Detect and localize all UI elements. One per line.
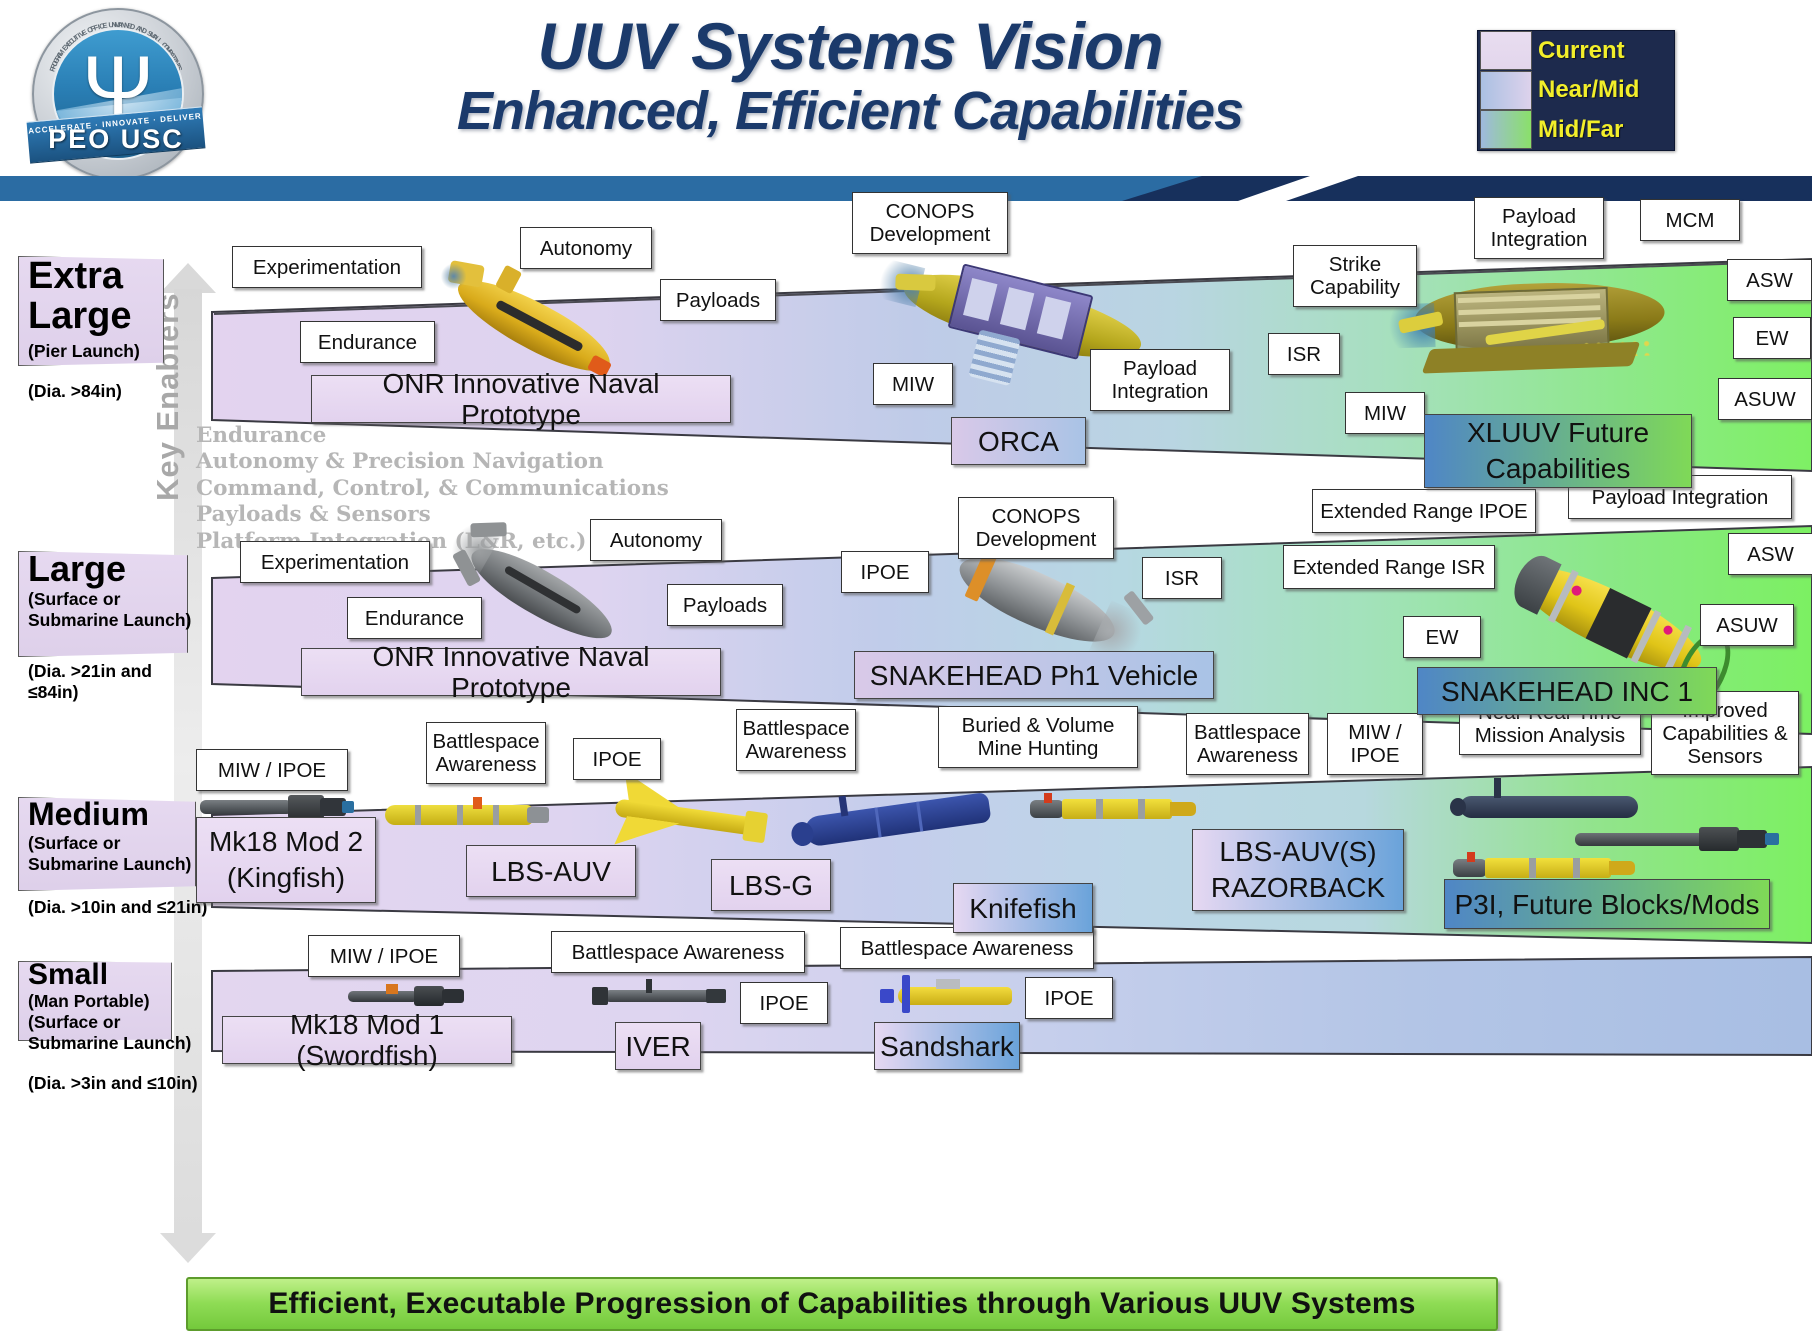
program-lbs-auv[interactable]: LBS-AUV <box>466 845 636 897</box>
diagram-canvas: Key Enablers Endurance Autonomy & Precis… <box>0 201 1812 1305</box>
category-diameter: (Dia. >10in and ≤21in) <box>28 897 208 918</box>
capability-ew-xl[interactable]: EW <box>1733 317 1811 359</box>
program-snakehead-ph1[interactable]: SNAKEHEAD Ph1 Vehicle <box>854 651 1214 699</box>
capability-payload-integration-xl-2[interactable]: Payload Integration <box>1474 197 1604 259</box>
capability-ipoe-small-2[interactable]: IPOE <box>1025 977 1113 1019</box>
capability-experimentation-large[interactable]: Experimentation <box>240 541 430 583</box>
capability-ew-large[interactable]: EW <box>1403 616 1481 658</box>
capability-conops-large[interactable]: CONOPS Development <box>958 497 1114 559</box>
capability-extended-range-ipoe[interactable]: Extended Range IPOE <box>1312 489 1536 533</box>
capability-mcm-xl[interactable]: MCM <box>1640 199 1740 241</box>
legend-label-nearmid: Near/Mid <box>1538 76 1639 104</box>
vehicle-p3i-dark <box>1450 784 1650 820</box>
capability-battlespace-medium-2[interactable]: Battlespace Awareness <box>736 709 856 771</box>
category-launch: (Pier Launch) <box>28 341 140 362</box>
category-diameter: (Dia. >3in and ≤10in) <box>28 1073 206 1094</box>
program-sandshark[interactable]: Sandshark <box>874 1022 1020 1070</box>
page-title: UUV Systems Vision <box>400 8 1300 84</box>
capability-ipoe-small-1[interactable]: IPOE <box>740 982 828 1024</box>
program-lbs-g[interactable]: LBS-G <box>711 859 831 911</box>
capability-autonomy-xl[interactable]: Autonomy <box>520 227 652 269</box>
vehicle-sandshark <box>880 977 1020 1013</box>
capability-isr-xl[interactable]: ISR <box>1268 333 1340 375</box>
capability-ipoe-medium-1[interactable]: IPOE <box>573 738 661 780</box>
program-knifefish[interactable]: Knifefish <box>953 883 1093 933</box>
category-launch: (Man Portable) (Surface or Submarine Lau… <box>28 991 206 1054</box>
legend-swatch-current <box>1480 31 1532 70</box>
capability-payload-integration-xl-1[interactable]: Payload Integration <box>1090 349 1230 411</box>
capability-miw-ipoe-medium-2[interactable]: MIW / IPOE <box>1327 713 1423 775</box>
title-block: UUV Systems Vision Enhanced, Efficient C… <box>400 8 1300 142</box>
legend-label-current: Current <box>1538 37 1625 65</box>
arrow-head-down <box>160 1233 216 1263</box>
legend-label-midfar: Mid/Far <box>1538 116 1623 144</box>
capability-autonomy-large[interactable]: Autonomy <box>590 519 722 561</box>
capability-battlespace-medium-1[interactable]: Battlespace Awareness <box>426 722 546 784</box>
capability-isr-large[interactable]: ISR <box>1142 557 1222 599</box>
program-iver[interactable]: IVER <box>615 1022 701 1070</box>
category-launch: (Surface or Submarine Launch) <box>28 589 198 631</box>
page-header: PROGRAM EXECUTIVE OFFICE UNMANNED AND SM… <box>0 0 1812 196</box>
legend-item-nearmid: Near/Mid <box>1478 71 1674 111</box>
capability-endurance-large[interactable]: Endurance <box>347 597 482 639</box>
capability-asw-xl[interactable]: ASW <box>1727 259 1812 301</box>
program-razorback[interactable]: LBS-AUV(S) RAZORBACK <box>1192 829 1404 911</box>
capability-miw-xl-1[interactable]: MIW <box>873 363 953 405</box>
legend-item-current: Current <box>1478 31 1674 71</box>
capability-payloads-large[interactable]: Payloads <box>667 584 783 626</box>
program-p3i[interactable]: P3I, Future Blocks/Mods <box>1444 879 1770 929</box>
program-xluuv[interactable]: XLUUV Future Capabilities <box>1424 414 1692 488</box>
category-name: Small <box>28 957 108 993</box>
capability-asuw-large[interactable]: ASUW <box>1700 604 1794 646</box>
category-name: Extra <box>28 254 123 298</box>
capability-battlespace-small-2[interactable]: Battlespace Awareness <box>840 927 1094 969</box>
capability-battlespace-medium-3[interactable]: Battlespace Awareness <box>1186 713 1309 775</box>
category-launch: (Surface or Submarine Launch) <box>28 833 208 875</box>
category-name-2: Large <box>28 294 131 338</box>
program-mk18-mod2[interactable]: Mk18 Mod 2 (Kingfish) <box>196 817 376 903</box>
category-diameter: (Dia. >84in) <box>28 381 122 402</box>
legend-item-midfar: Mid/Far <box>1478 110 1674 150</box>
capability-conops-xl[interactable]: CONOPS Development <box>852 192 1008 254</box>
vehicle-razorback <box>1030 792 1210 824</box>
category-diameter: (Dia. >21in and ≤84in) <box>28 661 198 703</box>
page-subtitle: Enhanced, Efficient Capabilities <box>400 80 1300 142</box>
capability-asw-large[interactable]: ASW <box>1728 533 1812 575</box>
capability-experimentation-xl[interactable]: Experimentation <box>232 246 422 288</box>
program-onr-large[interactable]: ONR Innovative Naval Prototype <box>301 648 721 696</box>
peo-usc-seal: PROGRAM EXECUTIVE OFFICE UNMANNED AND SM… <box>18 6 214 176</box>
vehicle-lbs-auv <box>385 797 550 833</box>
capability-miw-ipoe-small[interactable]: MIW / IPOE <box>308 935 460 977</box>
timeframe-legend: Current Near/Mid Mid/Far <box>1477 30 1675 151</box>
vehicle-mk18-mod1 <box>348 983 478 1009</box>
legend-swatch-midfar <box>1480 110 1532 149</box>
capability-buried-mine-hunting[interactable]: Buried & Volume Mine Hunting <box>938 706 1138 768</box>
vehicle-iver <box>592 981 732 1011</box>
capability-extended-range-isr[interactable]: Extended Range ISR <box>1283 545 1495 589</box>
category-name: Medium <box>28 795 149 833</box>
capability-asuw-xl[interactable]: ASUW <box>1718 378 1812 420</box>
capability-strike-xl[interactable]: Strike Capability <box>1293 245 1417 307</box>
category-name: Large <box>28 547 126 591</box>
header-accent-dark <box>1122 176 1812 201</box>
capability-miw-xl-2[interactable]: MIW <box>1345 392 1425 434</box>
category-small: Small (Man Portable) (Surface or Submari… <box>18 961 214 1111</box>
program-snakehead-inc1[interactable]: SNAKEHEAD INC 1 <box>1417 667 1717 715</box>
program-onr-xl[interactable]: ONR Innovative Naval Prototype <box>311 375 731 423</box>
footer-banner: Efficient, Executable Progression of Cap… <box>186 1277 1498 1331</box>
category-extra-large: Extra Large (Pier Launch) (Dia. >84in) <box>18 256 214 366</box>
capability-battlespace-small-1[interactable]: Battlespace Awareness <box>551 931 805 973</box>
capability-ipoe-large[interactable]: IPOE <box>841 551 929 593</box>
seal-org-label: PEO USC <box>18 124 214 155</box>
category-large: Large (Surface or Submarine Launch) (Dia… <box>18 551 214 671</box>
program-mk18-mod1[interactable]: Mk18 Mod 1 (Swordfish) <box>222 1016 512 1064</box>
capability-payloads-xl[interactable]: Payloads <box>660 279 776 321</box>
legend-swatch-nearmid <box>1480 71 1532 110</box>
capability-endurance-xl[interactable]: Endurance <box>300 321 435 363</box>
category-medium: Medium (Surface or Submarine Launch) (Di… <box>18 797 214 907</box>
capability-miw-ipoe-medium-1[interactable]: MIW / IPOE <box>196 749 348 791</box>
program-orca[interactable]: ORCA <box>951 417 1086 465</box>
